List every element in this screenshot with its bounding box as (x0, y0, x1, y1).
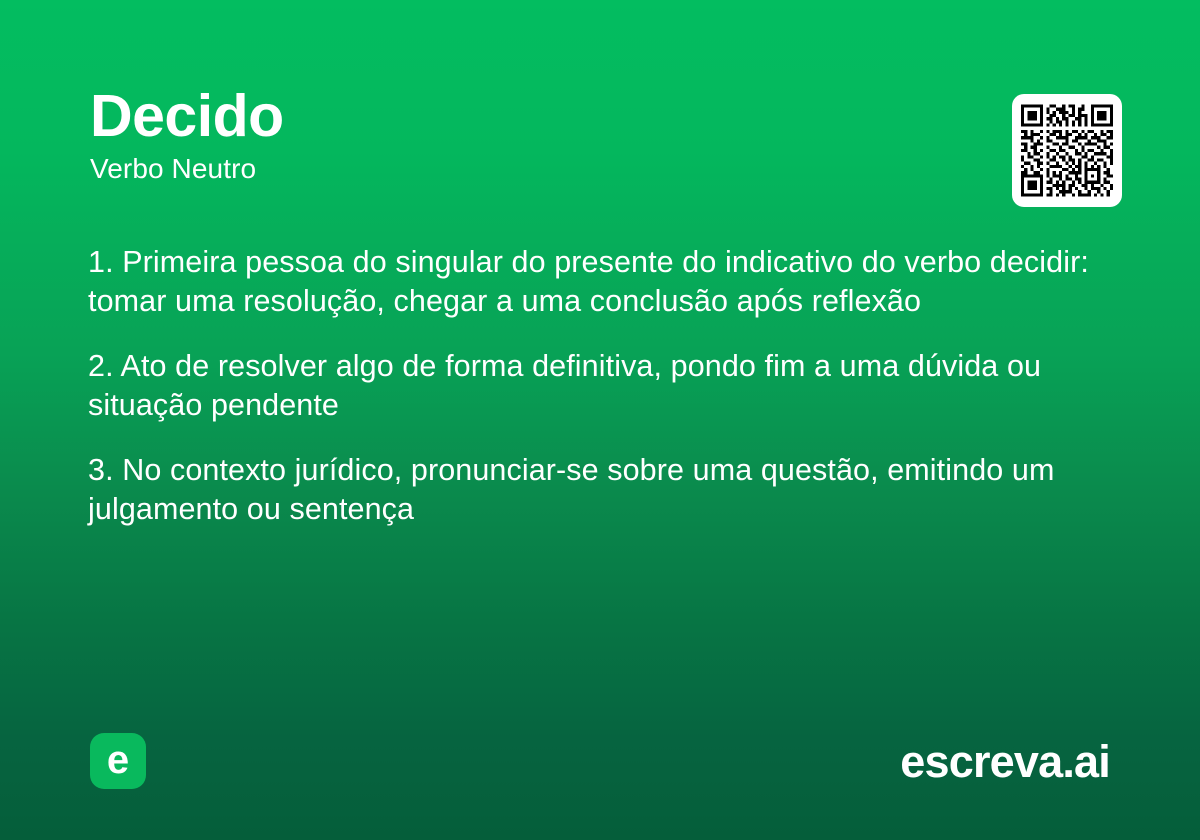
dictionary-card: Decido Verbo Neutro (0, 0, 1200, 840)
definition-list: 1. Primeira pessoa do singular do presen… (88, 243, 1112, 529)
word-class-label: Verbo Neutro (90, 154, 1110, 185)
brand-badge-letter: e (107, 740, 129, 780)
card-footer: e escreva.ai (90, 732, 1110, 790)
definition-item-3: 3. No contexto jurídico, pronunciar-se s… (88, 451, 1112, 529)
page-title: Decido (90, 86, 1110, 146)
definition-item-2: 2. Ato de resolver algo de forma definit… (88, 347, 1112, 425)
qr-code-icon[interactable] (1012, 94, 1122, 207)
brand-wordmark: escreva.ai (900, 739, 1110, 784)
escreva-logo-icon[interactable]: e (90, 733, 146, 789)
definition-item-1: 1. Primeira pessoa do singular do presen… (88, 243, 1112, 321)
card-header: Decido Verbo Neutro (90, 86, 1110, 185)
